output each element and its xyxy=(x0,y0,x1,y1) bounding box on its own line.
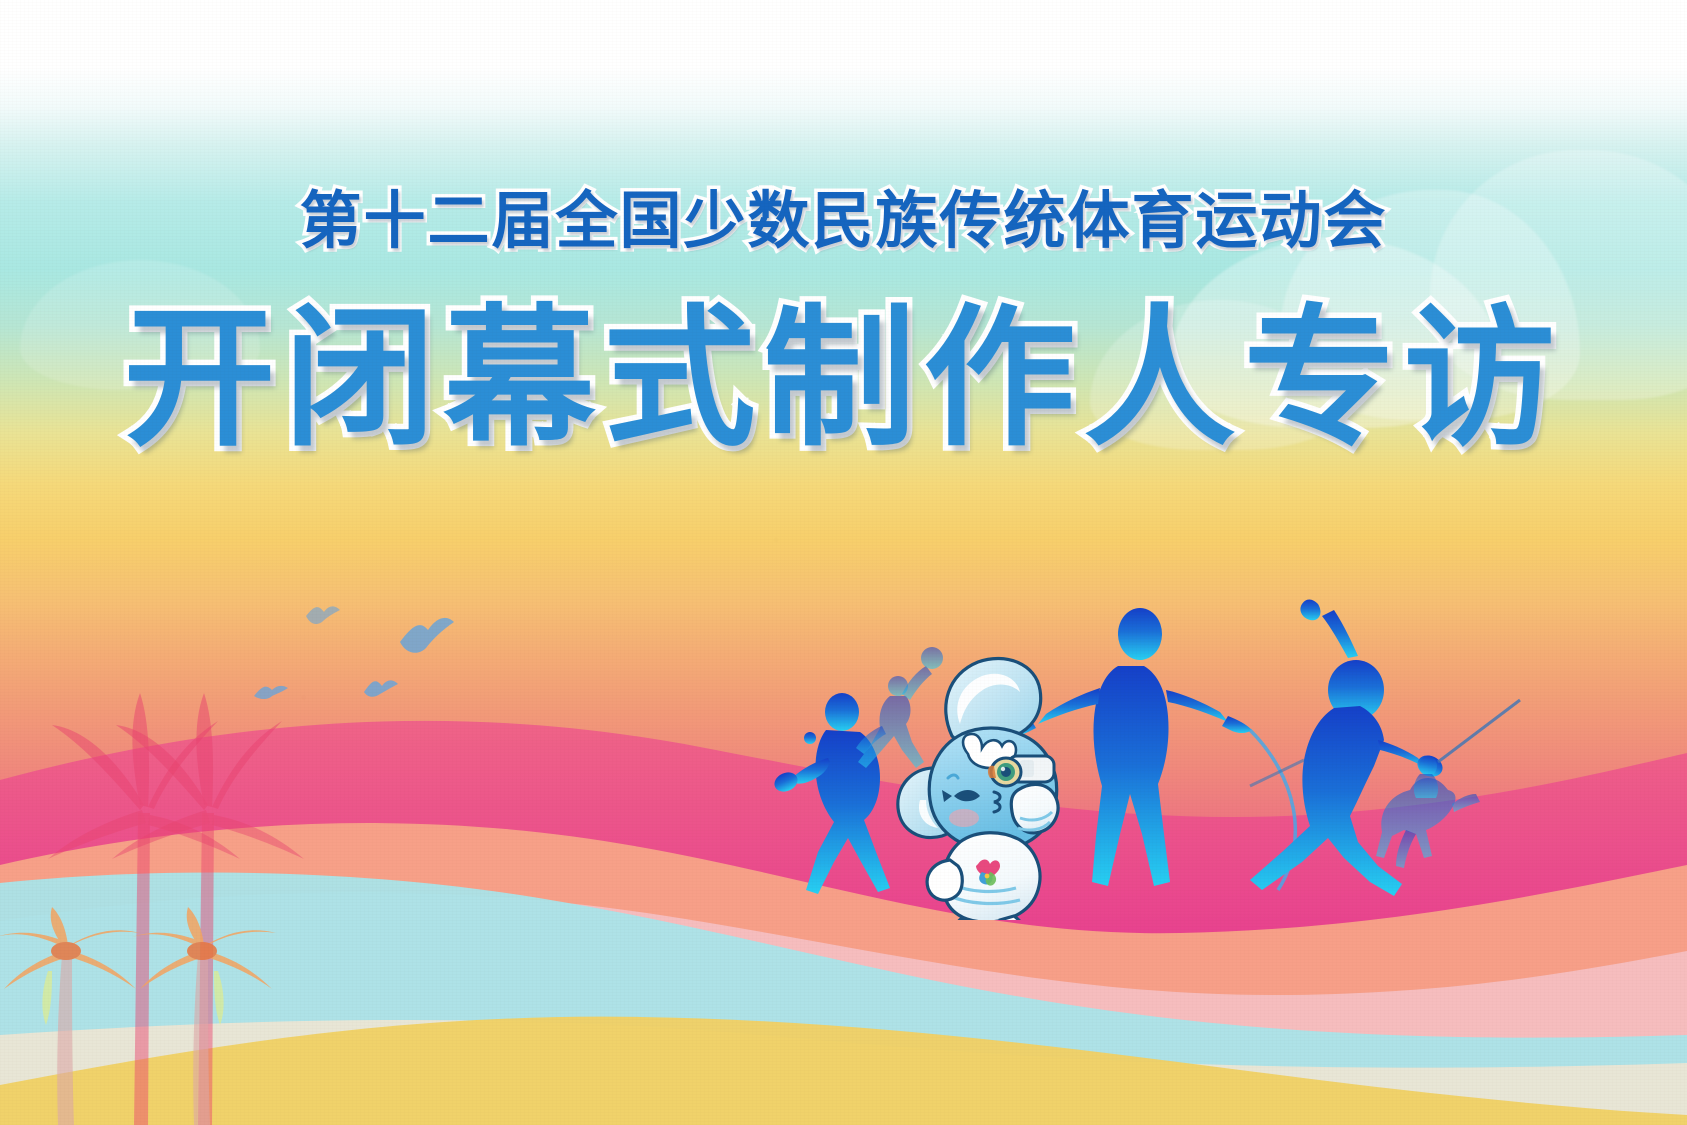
fencer xyxy=(1250,600,1446,897)
horse-rider xyxy=(1376,756,1480,868)
bird-flock xyxy=(240,600,460,730)
rabbit-mascot xyxy=(890,650,1110,920)
palm-front-left xyxy=(0,907,140,1125)
mascot-arm-right xyxy=(1011,784,1058,832)
bird-small-far-right xyxy=(306,606,340,624)
mascot-arm-left xyxy=(927,860,962,900)
mascot-blush xyxy=(949,809,979,827)
bird-small-left xyxy=(254,686,288,699)
bird-large-right xyxy=(400,618,454,653)
fencing-foil xyxy=(1438,700,1520,762)
poster-canvas: 第十二届全国少数民族传统体育运动会 开闭幕式制作人专访 xyxy=(0,0,1687,1125)
athlete-silhouette-group xyxy=(730,590,1560,930)
bird-small-mid xyxy=(364,680,398,696)
video-camera xyxy=(988,756,1054,786)
table-tennis-player xyxy=(771,693,890,894)
